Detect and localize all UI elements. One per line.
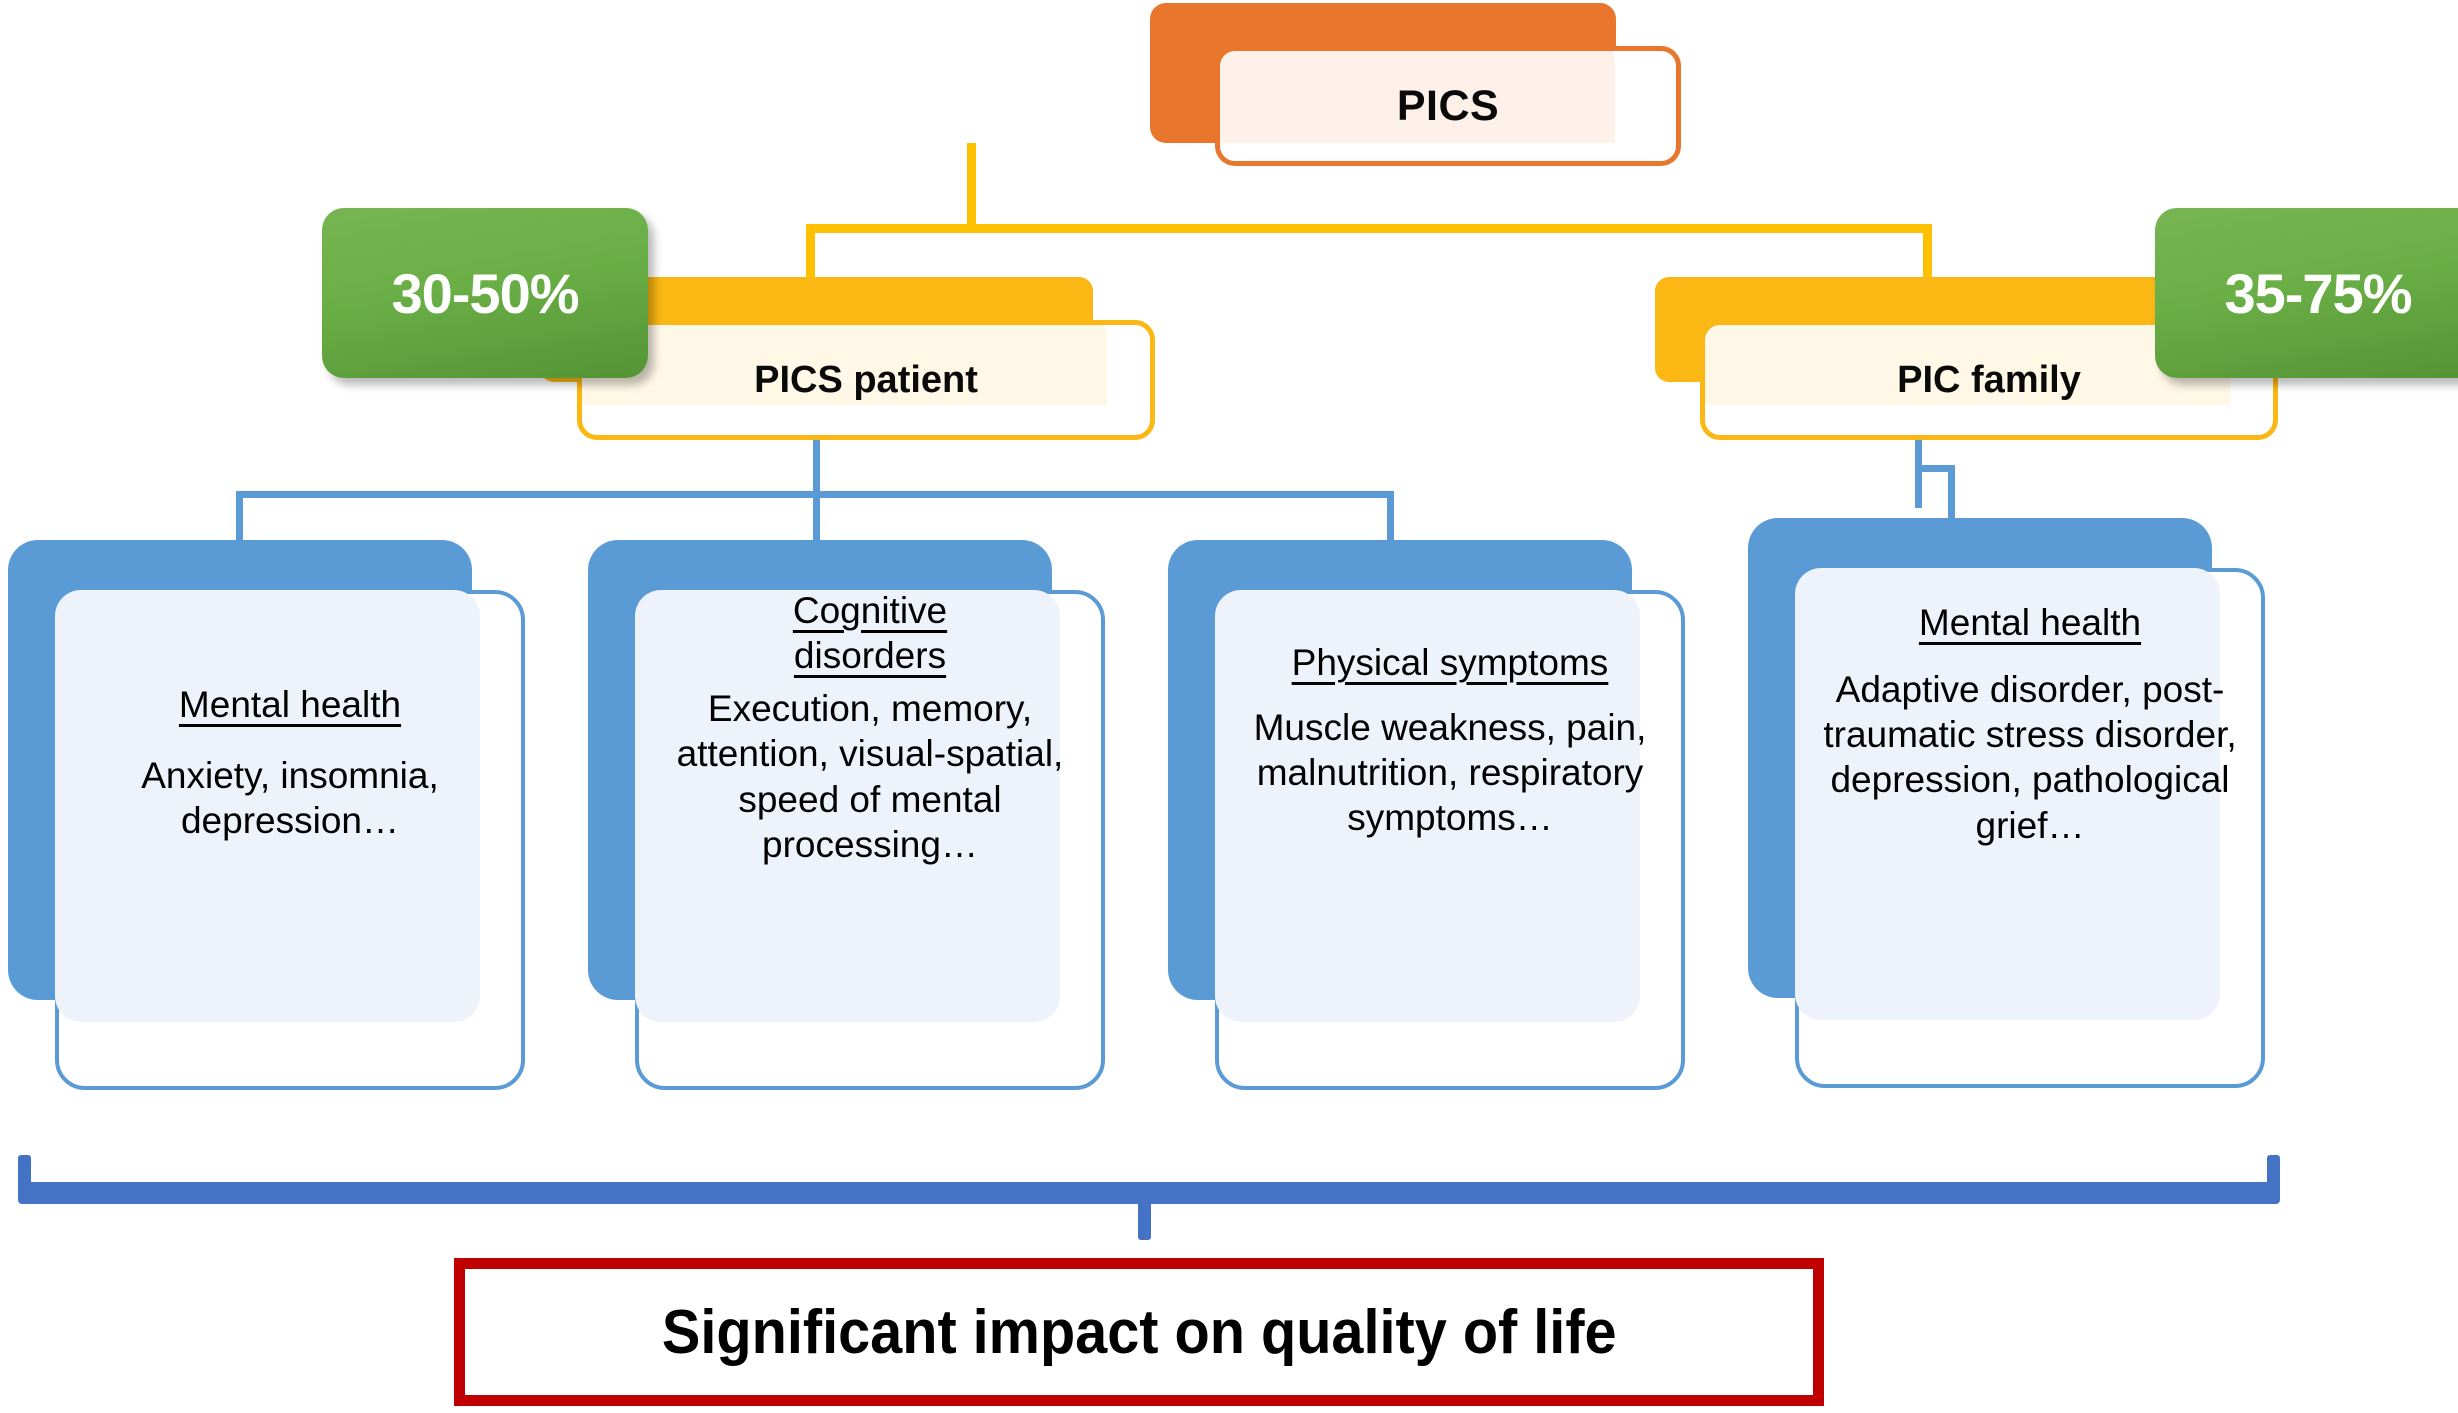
leaf-4-title: Mental health: [1919, 600, 2141, 645]
connector-root-to-patient: [806, 224, 815, 284]
diagram-canvas: PICS PICS patient PIC family 30-50% 35-7…: [0, 0, 2458, 1413]
leaf-1-title: Mental health: [179, 682, 401, 727]
root-node-label: PICS: [1215, 46, 1681, 166]
brace-tick-center-stub: [1138, 1200, 1151, 1240]
leaf-2-title: Cognitive disorders: [755, 588, 985, 678]
leaf-3-text: Physical symptoms Muscle weakness, pain,…: [1215, 640, 1685, 841]
leaf-3-title: Physical symptoms: [1292, 640, 1609, 685]
leaf-1-text: Mental health Anxiety, insomnia, depress…: [55, 682, 525, 843]
connector-root-to-family: [1923, 224, 1932, 284]
brace-tick-right: [2267, 1155, 2280, 1191]
outcome-box[interactable]: Significant impact on quality of life: [461, 1265, 1817, 1399]
brace-tick-left: [18, 1155, 31, 1191]
leaf-3-body: Muscle weakness, pain, malnutrition, res…: [1223, 705, 1677, 840]
badge-patient-prevalence: 30-50%: [322, 208, 648, 378]
branch-patient-label: PICS patient: [577, 320, 1155, 440]
connector-patient-drop-1: [236, 491, 243, 547]
leaf-1-body: Anxiety, insomnia, depression…: [73, 753, 507, 843]
connector-patient-vertical: [813, 430, 820, 498]
outcome-box-outer-border: Significant impact on quality of life: [454, 1258, 1824, 1406]
outcome-label: Significant impact on quality of life: [662, 1297, 1617, 1368]
connector-patient-drop-2: [813, 491, 820, 547]
connector-root-horizontal: [806, 224, 1932, 233]
leaf-4-body: Adaptive disorder, post-traumatic stress…: [1809, 667, 2251, 848]
badge-family-prevalence: 35-75%: [2155, 208, 2458, 378]
leaf-2-body: Execution, memory, attention, visual-spa…: [645, 686, 1095, 867]
connector-family-drop-b: [1948, 465, 1955, 521]
leaf-2-text: Cognitive disorders Execution, memory, a…: [635, 588, 1105, 867]
connector-patient-drop-3: [1387, 491, 1394, 547]
leaf-4-text: Mental health Adaptive disorder, post-tr…: [1795, 600, 2265, 848]
connector-root-vertical: [967, 143, 976, 230]
